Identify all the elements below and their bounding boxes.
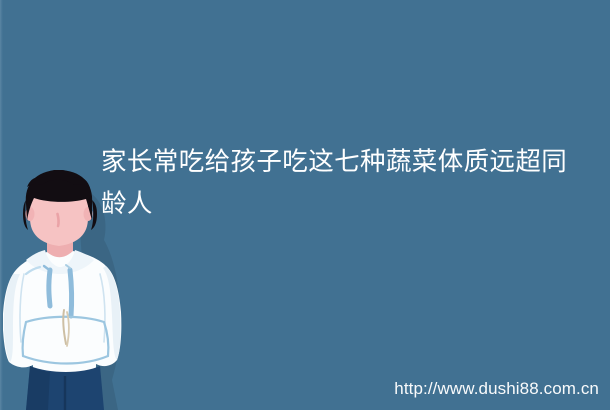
left-edge-highlight — [0, 0, 3, 410]
site-url-watermark: http://www.dushi88.com.cn — [394, 379, 599, 398]
article-headline: 家长常吃给孩子吃这七种蔬菜体质远超同龄人 — [101, 141, 571, 225]
pants-shade — [26, 366, 50, 410]
nose-mark — [58, 214, 59, 226]
drawstring-left — [49, 270, 50, 306]
drawstring-right — [70, 270, 72, 316]
article-thumbnail-banner: 家长常吃给孩子吃这七种蔬菜体质远超同龄人 http://www.dushi88.… — [0, 0, 610, 410]
